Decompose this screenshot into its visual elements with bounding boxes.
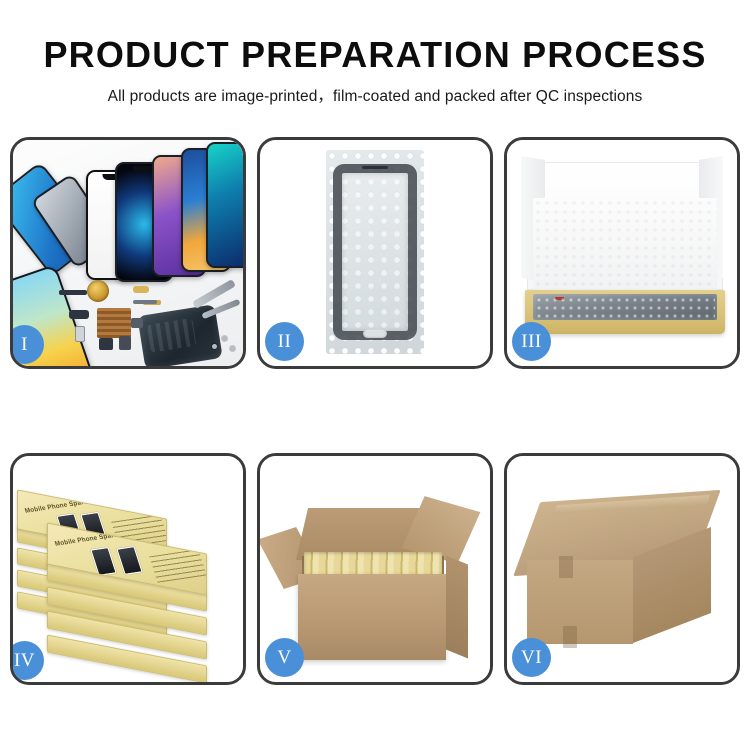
- flex-cable-part: [59, 290, 87, 295]
- carton-handle-tab-top: [559, 556, 573, 578]
- product-preparation-infographic: PRODUCT PREPARATION PROCESS All products…: [0, 0, 750, 750]
- step-panel-3: III: [504, 137, 740, 369]
- red-label-mark: [555, 297, 564, 300]
- step-panel-1: I: [10, 137, 246, 369]
- stacked-retail-boxes-image: Mobile Phone Spare Parts Mobile Phone Sp…: [13, 456, 243, 682]
- carton-right-face: [446, 556, 468, 659]
- step-badge-5: V: [265, 638, 304, 677]
- chip-array-part: [97, 308, 131, 338]
- sim-tray-part: [75, 326, 85, 342]
- step-panel-2: II: [257, 137, 493, 369]
- step-panel-5: V: [257, 453, 493, 685]
- connector-part: [69, 310, 89, 319]
- screen-glass-frame: [333, 164, 417, 340]
- step-panel-6: VI: [504, 453, 740, 685]
- carton-front-face: [298, 574, 446, 660]
- bubble-film: [326, 150, 424, 354]
- camera-module-part: [99, 338, 113, 350]
- process-steps-grid: I II: [10, 137, 740, 685]
- page-title: PRODUCT PREPARATION PROCESS: [0, 36, 750, 74]
- phone-teal-display: [206, 142, 243, 268]
- home-button-cutout: [363, 329, 387, 338]
- phone-screens-and-parts-image: [13, 140, 243, 366]
- speaker-part: [133, 286, 149, 293]
- step-badge-6: VI: [512, 638, 551, 677]
- box-stack: Mobile Phone Spare Parts Mobile Phone Sp…: [17, 482, 243, 672]
- page-subtitle: All products are image-printed，film-coat…: [0, 84, 750, 106]
- wrapped-part-in-tray: [533, 294, 717, 320]
- header: PRODUCT PREPARATION PROCESS All products…: [0, 0, 750, 106]
- kraft-tray: [525, 290, 725, 334]
- step-badge-3: III: [512, 322, 551, 361]
- copper-coil-part: [87, 280, 109, 302]
- antenna-strip-part: [133, 300, 157, 304]
- vibrator-part: [119, 336, 131, 350]
- small-chip-part: [131, 318, 143, 328]
- step-panel-4: Mobile Phone Spare Parts Mobile Phone Sp…: [10, 453, 246, 685]
- carton-handle-tab-bottom: [563, 626, 577, 648]
- white-foam-insert: [533, 198, 717, 294]
- step-badge-2: II: [265, 322, 304, 361]
- carton-front-face: [527, 560, 633, 644]
